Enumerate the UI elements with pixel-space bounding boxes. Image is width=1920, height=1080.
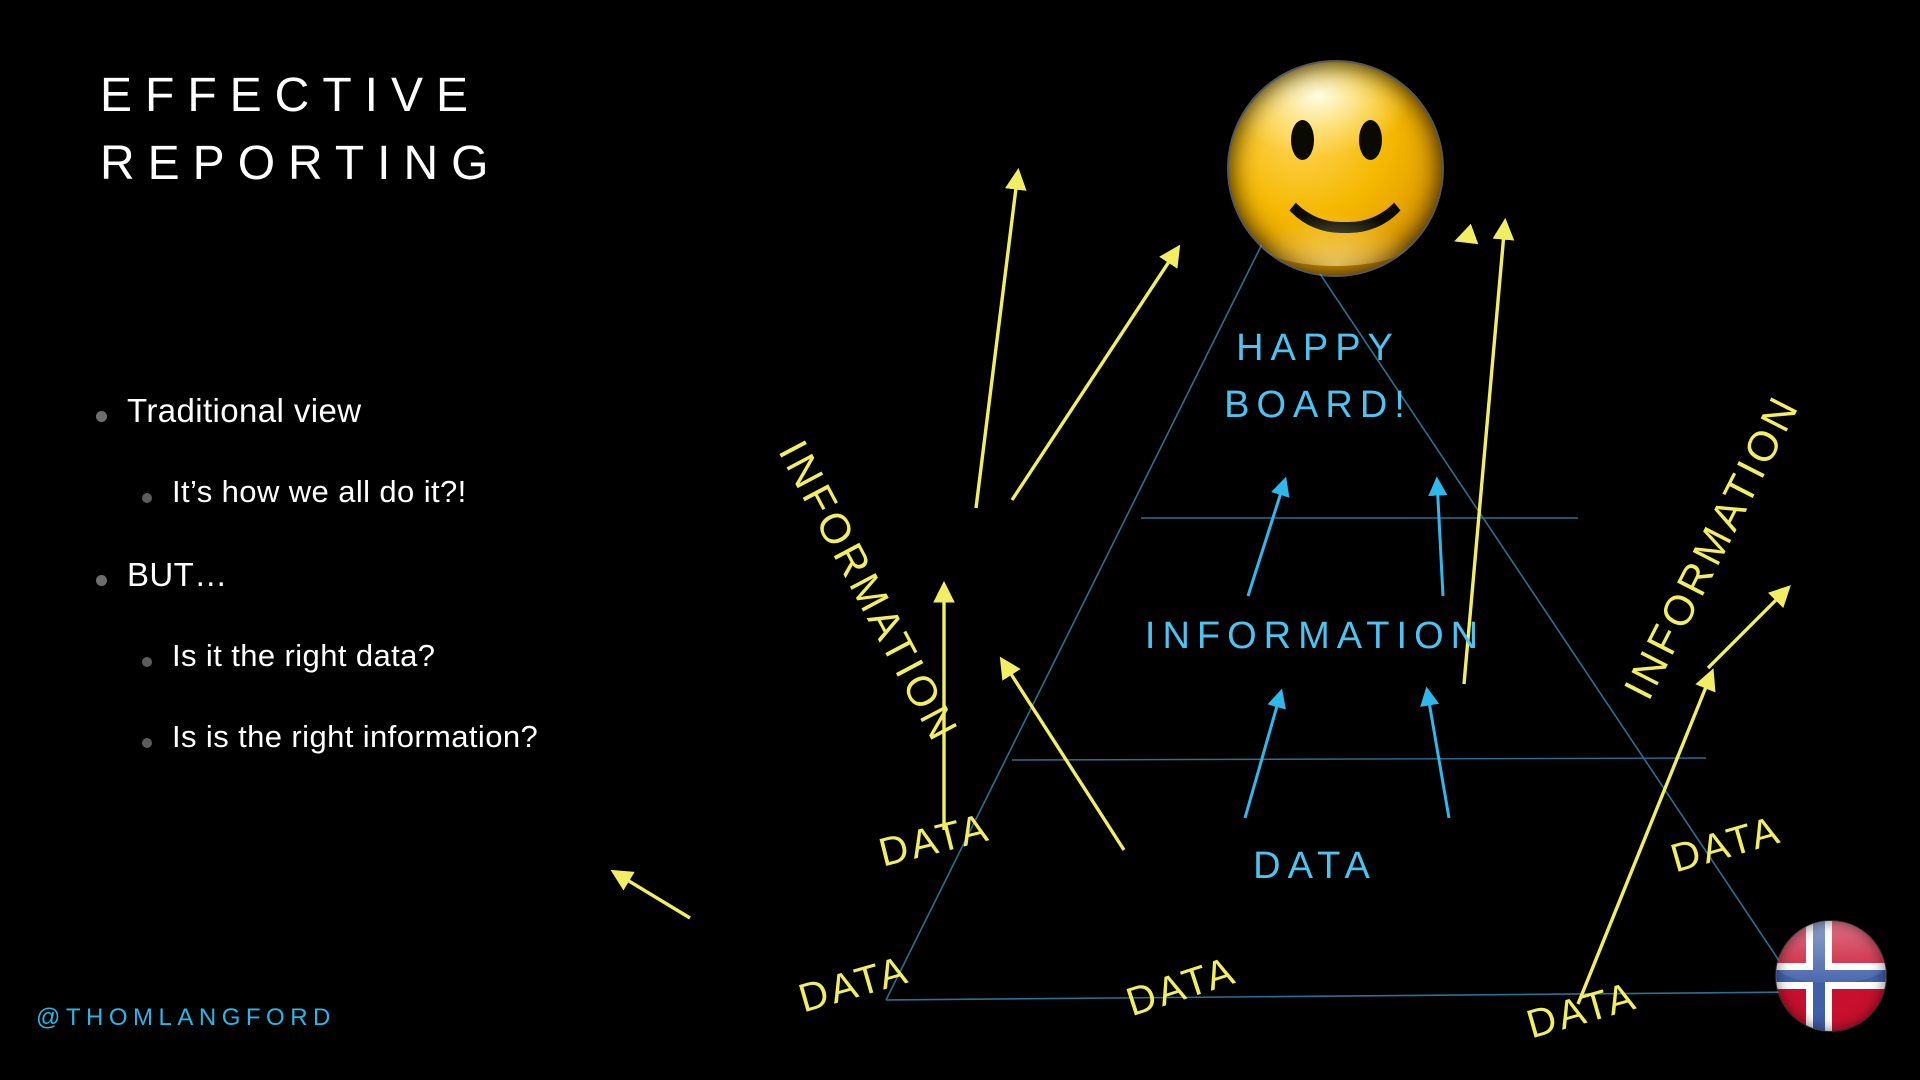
pyramid-vector-layer [0,0,1920,1080]
smiley-face-icon [1229,62,1442,275]
tier-dividers [1012,518,1706,760]
norway-flag-badge-icon [1776,921,1886,1031]
slide-canvas: EFFECTIVE REPORTING Traditional view It’… [0,0,1920,1080]
inner-flow-arrows [1245,480,1449,818]
flag-rim-shadow [1776,921,1886,1031]
smiley-mouth-icon [1271,138,1419,233]
outer-flow-arrows [614,172,1788,1004]
pyramid-diagram: HAPPY BOARD! INFORMATION DATA INFORMATIO… [0,0,1920,1080]
pyramid-outline [886,232,1800,1000]
